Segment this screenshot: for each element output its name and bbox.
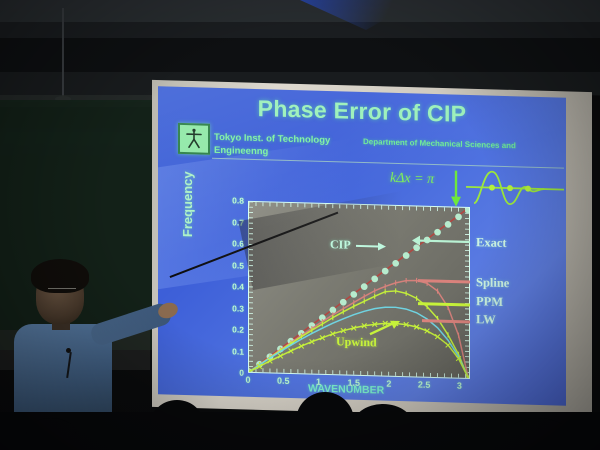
ceiling-beam	[0, 0, 600, 22]
plot-canvas	[249, 202, 469, 378]
y-tick-label: 0.5	[232, 260, 244, 270]
projected-slide: Phase Error of CIP Tokyo Inst. of Techno…	[158, 86, 566, 405]
microphone-stand	[62, 8, 64, 100]
down-arrow-icon	[451, 196, 461, 206]
org-name-line1: Tokyo Inst. of Technology	[214, 132, 330, 146]
x-tick-label: 2	[386, 379, 391, 389]
upwind-arrow-icon	[370, 320, 400, 337]
y-tick-label: 0.3	[232, 303, 244, 313]
formula-kdx-pi: kΔx = π	[390, 171, 434, 188]
audience-head	[150, 400, 204, 450]
x-tick-label: 2.5	[418, 380, 431, 390]
y-tick-label: 0.7	[232, 217, 244, 227]
header-divider	[212, 158, 564, 169]
legend-label-spline: Spline	[476, 275, 509, 291]
y-axis-label: Frequency	[180, 171, 195, 237]
x-tick-label: 1	[316, 377, 321, 387]
audience-head	[352, 404, 414, 450]
lecture-hall-photo: Phase Error of CIP Tokyo Inst. of Techno…	[0, 0, 600, 450]
org-name-line2: Engineenng	[214, 145, 268, 158]
ceiling-beam-lower	[0, 22, 600, 38]
y-tick-label: 0.1	[232, 346, 244, 356]
presenter-glasses	[48, 288, 76, 295]
legend-label-ppm: PPM	[476, 294, 503, 310]
tokyo-tech-logo	[178, 123, 210, 155]
y-axis-ticks: 00.10.20.30.40.50.60.70.8	[214, 200, 244, 373]
x-tick-label: 0	[245, 375, 250, 385]
human-figure-icon	[186, 128, 202, 148]
x-tick-label: 0.5	[277, 376, 290, 386]
waveform-sketch	[450, 168, 566, 211]
department-name: Department of Mechanical Sciences and	[363, 137, 516, 150]
phase-error-plot	[248, 201, 470, 379]
annotation-upwind: Upwind	[336, 334, 377, 350]
audience-head	[296, 392, 354, 450]
x-tick-label: 3	[457, 381, 462, 391]
y-tick-label: 0.4	[232, 281, 244, 291]
x-tick-label: 1.5	[347, 378, 360, 388]
audience-head	[430, 412, 496, 450]
audience-head	[508, 418, 568, 450]
exact-leader-line	[412, 233, 472, 249]
audience-head	[26, 418, 76, 450]
cip-arrow-icon	[356, 241, 386, 252]
slide-title: Phase Error of CIP	[158, 92, 566, 130]
legend-label-lw: LW	[476, 312, 496, 328]
annotation-cip: CIP	[330, 237, 351, 253]
y-tick-label: 0	[239, 368, 244, 378]
y-tick-label: 0.8	[232, 195, 244, 205]
legend-label-exact: Exact	[476, 235, 507, 251]
ceiling-dark-band	[0, 38, 600, 72]
y-tick-label: 0.2	[232, 324, 244, 334]
